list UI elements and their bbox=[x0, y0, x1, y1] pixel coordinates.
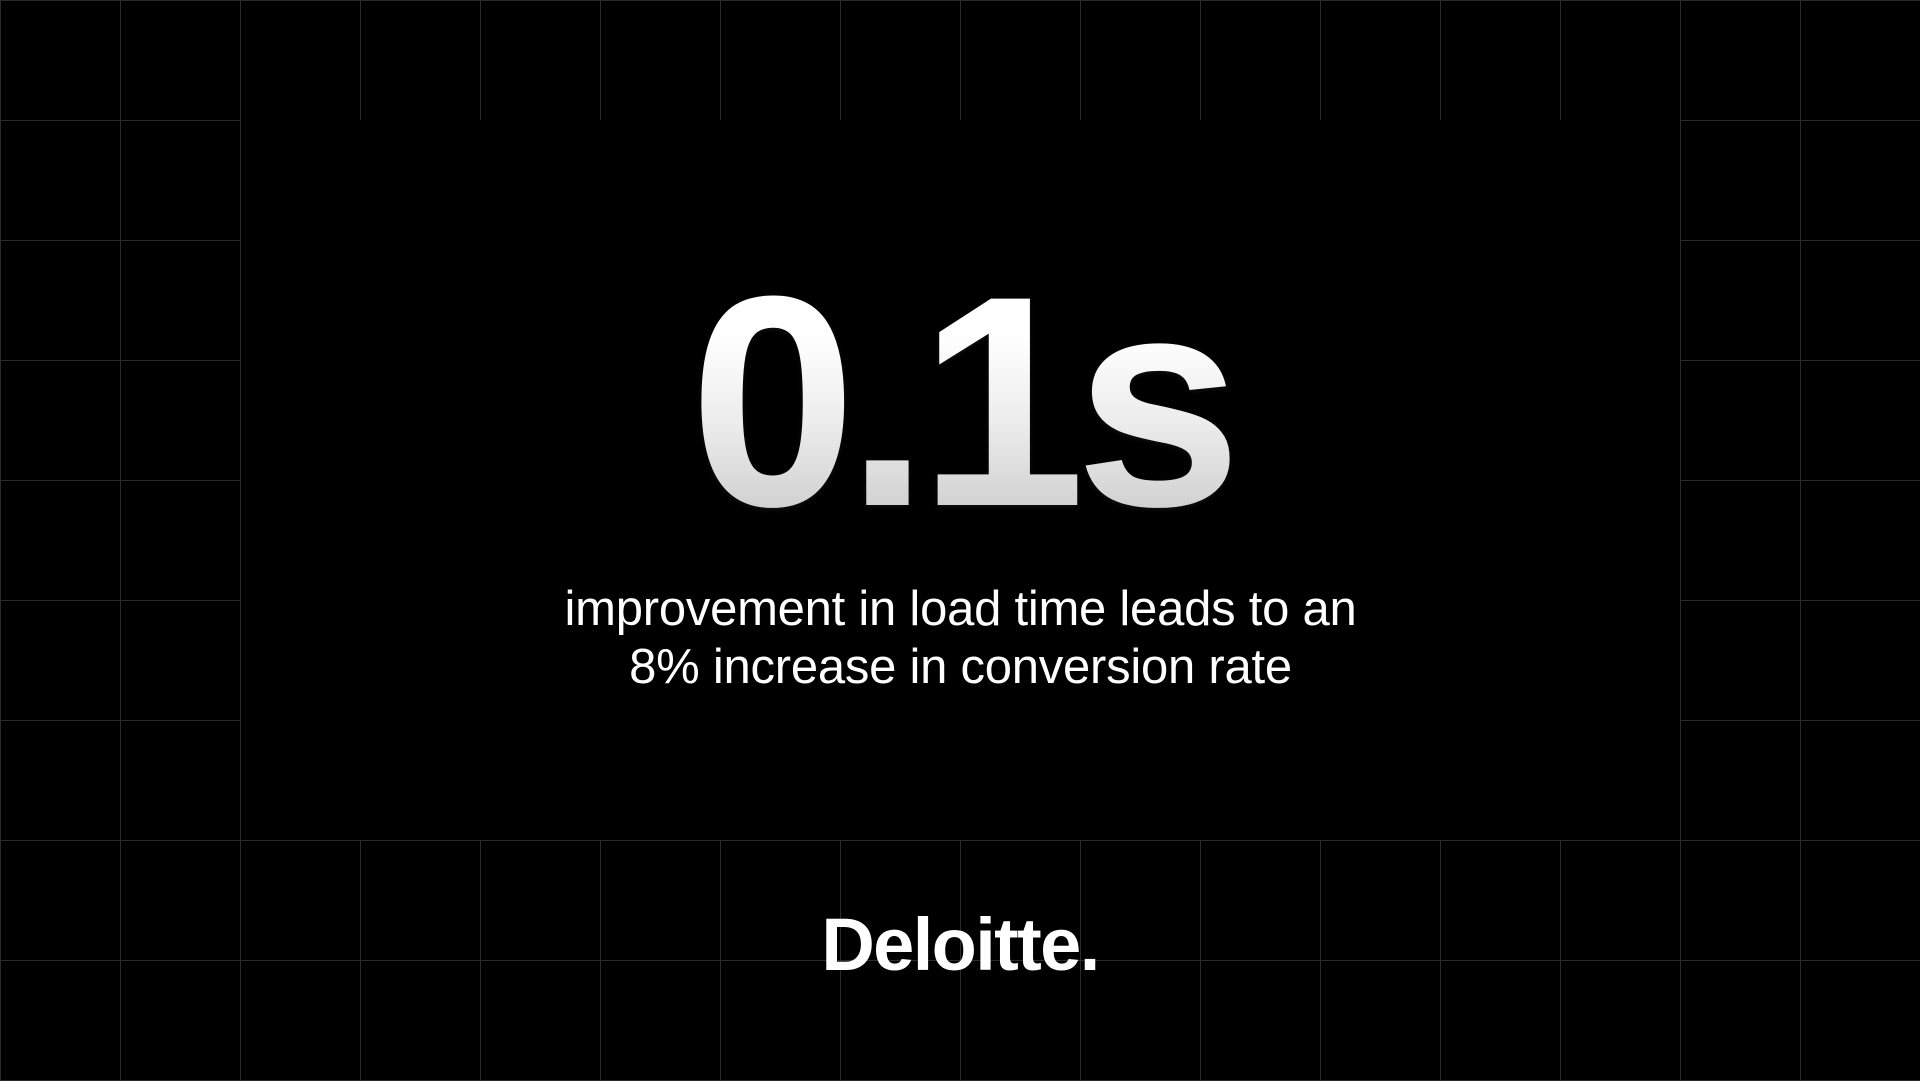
deloitte-logo: Deloitte. bbox=[821, 908, 1098, 982]
brand-footer: Deloitte. bbox=[0, 880, 1920, 1010]
stat-caption-line-1: improvement in load time leads to an bbox=[565, 581, 1357, 639]
stat-caption-line-2: 8% increase in conversion rate bbox=[565, 639, 1357, 697]
stat-block: 0.1s improvement in load time leads to a… bbox=[241, 120, 1680, 840]
stat-caption: improvement in load time leads to an 8% … bbox=[565, 581, 1357, 697]
slide-canvas: 0.1s improvement in load time leads to a… bbox=[0, 0, 1920, 1081]
stat-value: 0.1s bbox=[690, 263, 1232, 539]
